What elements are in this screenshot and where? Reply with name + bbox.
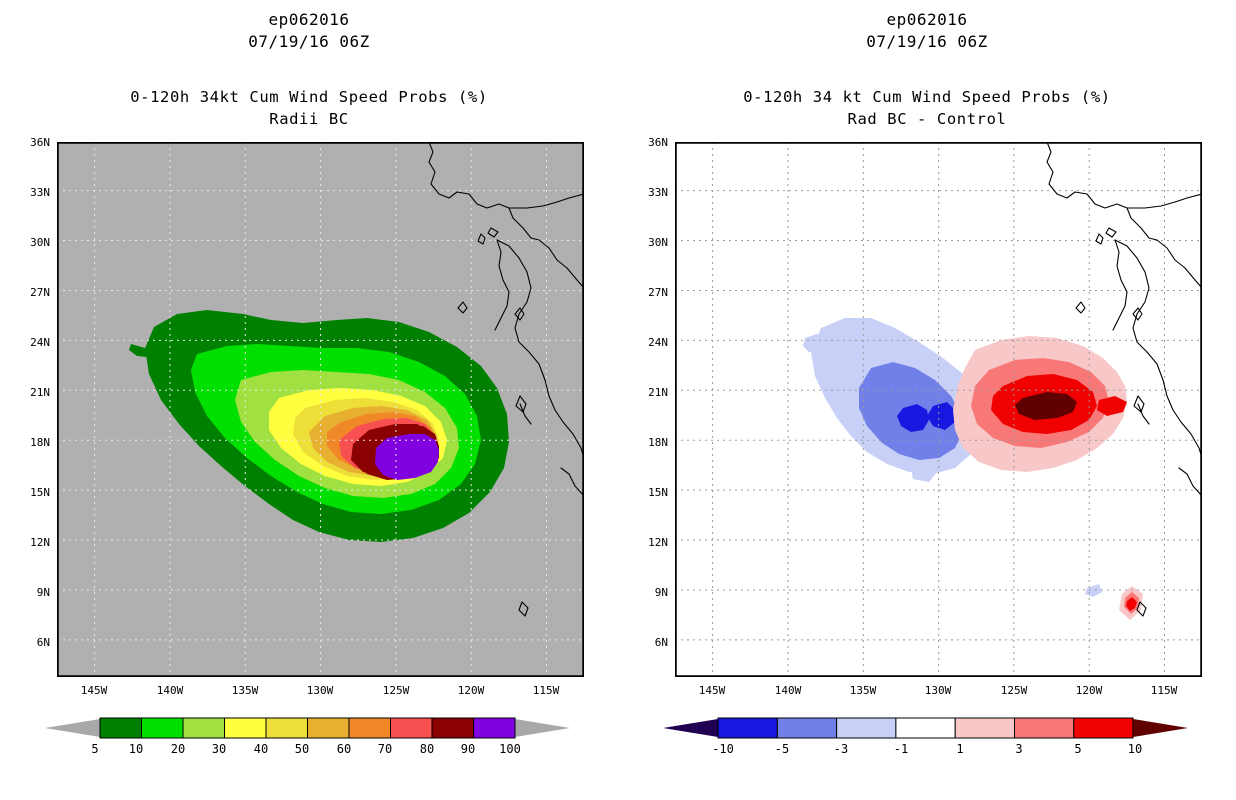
- left-ytick-3: 27N: [8, 286, 50, 299]
- right-ytick-9: 9N: [626, 586, 668, 599]
- left-storm-id: ep062016: [0, 10, 618, 29]
- left-colorbar-svg: [45, 715, 570, 741]
- right-colorbar-over-arrow: [1133, 719, 1188, 737]
- left-cb-label-8: 80: [412, 742, 442, 756]
- left-cb-label-5: 50: [287, 742, 317, 756]
- left-ytick-5: 21N: [8, 386, 50, 399]
- right-cb-label-1: -5: [760, 742, 804, 756]
- left-ytick-4: 24N: [8, 336, 50, 349]
- left-chart-title: 0-120h 34kt Cum Wind Speed Probs (%): [0, 88, 618, 106]
- left-xtick-6: 115W: [521, 684, 571, 697]
- right-colorbar-svg: [663, 715, 1188, 741]
- left-cb-label-7: 70: [370, 742, 400, 756]
- right-ytick-1: 33N: [626, 186, 668, 199]
- left-cb-label-3: 30: [204, 742, 234, 756]
- right-datetime: 07/19/16 06Z: [618, 32, 1236, 51]
- right-cb-label-0: -10: [701, 742, 745, 756]
- left-cb-label-6: 60: [329, 742, 359, 756]
- right-cb-label-6: 5: [1056, 742, 1100, 756]
- left-cb-label-1: 10: [121, 742, 151, 756]
- left-cb-label-0: 5: [80, 742, 110, 756]
- right-ytick-10: 6N: [626, 636, 668, 649]
- left-ytick-10: 6N: [8, 636, 50, 649]
- right-map-svg: [675, 142, 1202, 677]
- left-colorbar-over-arrow: [515, 719, 570, 737]
- right-ytick-6: 18N: [626, 436, 668, 449]
- right-cb-label-4: 1: [938, 742, 982, 756]
- right-xtick-5: 120W: [1064, 684, 1114, 697]
- left-ytick-0: 36N: [8, 136, 50, 149]
- right-chart-subtitle: Rad BC - Control: [618, 110, 1236, 128]
- left-map-plot: [57, 142, 584, 677]
- left-ytick-9: 9N: [8, 586, 50, 599]
- right-ytick-4: 24N: [626, 336, 668, 349]
- right-ytick-0: 36N: [626, 136, 668, 149]
- left-colorbar-swatches: [100, 718, 515, 738]
- right-cb-label-3: -1: [879, 742, 923, 756]
- left-datetime: 07/19/16 06Z: [0, 32, 618, 51]
- right-xtick-0: 145W: [687, 684, 737, 697]
- right-ytick-7: 15N: [626, 486, 668, 499]
- left-chart-subtitle: Radii BC: [0, 110, 618, 128]
- right-xtick-4: 125W: [989, 684, 1039, 697]
- right-ytick-5: 21N: [626, 386, 668, 399]
- left-ytick-7: 15N: [8, 486, 50, 499]
- right-cb-label-2: -3: [819, 742, 863, 756]
- right-xtick-2: 135W: [838, 684, 888, 697]
- left-ytick-2: 30N: [8, 236, 50, 249]
- left-xtick-2: 135W: [220, 684, 270, 697]
- left-cb-label-2: 20: [163, 742, 193, 756]
- right-chart-title: 0-120h 34 kt Cum Wind Speed Probs (%): [618, 88, 1236, 106]
- right-colorbar-under-arrow: [663, 719, 718, 737]
- right-ytick-8: 12N: [626, 536, 668, 549]
- wind-speed-probability-figure: ep062016 07/19/16 06Z 0-120h 34kt Cum Wi…: [0, 0, 1236, 800]
- right-colorbar-swatches: [718, 718, 1133, 738]
- left-xtick-1: 140W: [145, 684, 195, 697]
- left-ytick-6: 18N: [8, 436, 50, 449]
- left-ytick-8: 12N: [8, 536, 50, 549]
- left-cb-label-10: 100: [492, 742, 528, 756]
- right-colorbar: [663, 715, 1188, 741]
- panel-radii-bc: ep062016 07/19/16 06Z 0-120h 34kt Cum Wi…: [0, 0, 618, 800]
- right-cb-label-7: 10: [1113, 742, 1157, 756]
- right-ytick-3: 27N: [626, 286, 668, 299]
- left-xtick-5: 120W: [446, 684, 496, 697]
- left-colorbar-under-arrow: [45, 719, 100, 737]
- right-map-plot: [675, 142, 1202, 677]
- left-cb-label-9: 90: [453, 742, 483, 756]
- right-cb-label-5: 3: [997, 742, 1041, 756]
- left-map-svg: [57, 142, 584, 677]
- right-xtick-1: 140W: [763, 684, 813, 697]
- right-xtick-6: 115W: [1139, 684, 1189, 697]
- right-storm-id: ep062016: [618, 10, 1236, 29]
- left-xtick-4: 125W: [371, 684, 421, 697]
- left-xtick-3: 130W: [295, 684, 345, 697]
- left-cb-label-4: 40: [246, 742, 276, 756]
- right-xtick-3: 130W: [913, 684, 963, 697]
- panel-rad-bc-minus-control: ep062016 07/19/16 06Z 0-120h 34 kt Cum W…: [618, 0, 1236, 800]
- right-ytick-2: 30N: [626, 236, 668, 249]
- left-colorbar: [45, 715, 570, 741]
- left-xtick-0: 145W: [69, 684, 119, 697]
- left-ytick-1: 33N: [8, 186, 50, 199]
